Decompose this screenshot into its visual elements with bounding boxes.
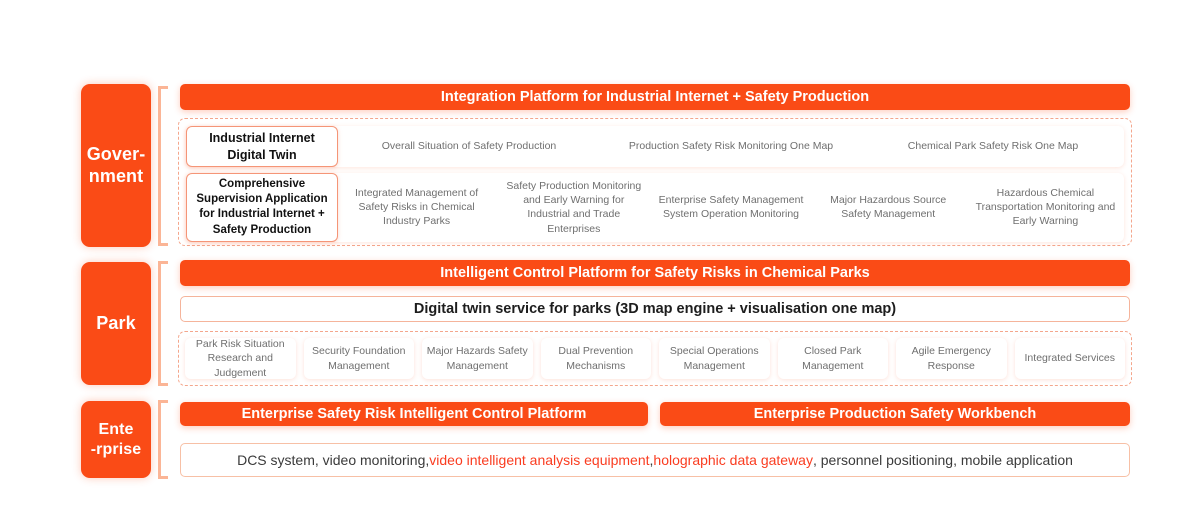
government-cell[interactable]: Hazardous Chemical Transportation Monito… <box>967 173 1124 242</box>
strip-text-part-1: DCS system, video monitoring, <box>237 452 429 468</box>
government-banner: Integration Platform for Industrial Inte… <box>180 84 1130 110</box>
strip-highlight-video-analysis: video intelligent analysis equipment <box>429 452 649 468</box>
bracket-park <box>158 261 168 386</box>
government-cell[interactable]: Production Safety Risk Monitoring One Ma… <box>600 126 862 167</box>
park-subtitle-bar: Digital twin service for parks (3D map e… <box>180 296 1130 322</box>
enterprise-technology-strip: DCS system, video monitoring, video inte… <box>180 443 1130 477</box>
government-row-2: Comprehensive Supervision Application fo… <box>186 173 1124 242</box>
strip-highlight-holographic-gateway: holographic data gateway <box>653 452 813 468</box>
bracket-government <box>158 86 168 246</box>
government-cell[interactable]: Overall Situation of Safety Production <box>338 126 600 167</box>
park-card[interactable]: Security Foundation Management <box>304 338 415 379</box>
government-cell[interactable]: Chemical Park Safety Risk One Map <box>862 126 1124 167</box>
government-cell[interactable]: Enterprise Safety Management System Oper… <box>652 173 809 242</box>
park-card[interactable]: Special Operations Management <box>659 338 770 379</box>
park-card[interactable]: Closed Park Management <box>778 338 889 379</box>
tier-label-park: Park <box>81 262 151 385</box>
government-cell[interactable]: Integrated Management of Safety Risks in… <box>338 173 495 242</box>
government-row-1: Industrial Internet Digital TwinOverall … <box>186 126 1124 167</box>
architecture-diagram: Gover- nment Park Ente -rprise Integrati… <box>0 0 1200 529</box>
park-card[interactable]: Integrated Services <box>1015 338 1126 379</box>
bracket-enterprise <box>158 400 168 479</box>
strip-text-part-3: , personnel positioning, mobile applicat… <box>813 452 1073 468</box>
government-cell-highlight[interactable]: Industrial Internet Digital Twin <box>186 126 338 167</box>
park-card[interactable]: Dual Prevention Mechanisms <box>541 338 652 379</box>
park-card-row: Park Risk Situation Research and Judgeme… <box>185 338 1125 379</box>
park-banner: Intelligent Control Platform for Safety … <box>180 260 1130 286</box>
park-card[interactable]: Major Hazards Safety Management <box>422 338 533 379</box>
tier-label-enterprise: Ente -rprise <box>81 401 151 478</box>
park-card[interactable]: Agile Emergency Response <box>896 338 1007 379</box>
government-cell[interactable]: Safety Production Monitoring and Early W… <box>495 173 652 242</box>
enterprise-banner-left: Enterprise Safety Risk Intelligent Contr… <box>180 402 648 426</box>
enterprise-banner-right: Enterprise Production Safety Workbench <box>660 402 1130 426</box>
government-cell[interactable]: Major Hazardous Source Safety Management <box>810 173 967 242</box>
government-group: Industrial Internet Digital TwinOverall … <box>178 118 1132 246</box>
park-card[interactable]: Park Risk Situation Research and Judgeme… <box>185 338 296 379</box>
park-cards-group: Park Risk Situation Research and Judgeme… <box>178 331 1132 386</box>
tier-label-government: Gover- nment <box>81 84 151 247</box>
government-cell-highlight[interactable]: Comprehensive Supervision Application fo… <box>186 173 338 242</box>
